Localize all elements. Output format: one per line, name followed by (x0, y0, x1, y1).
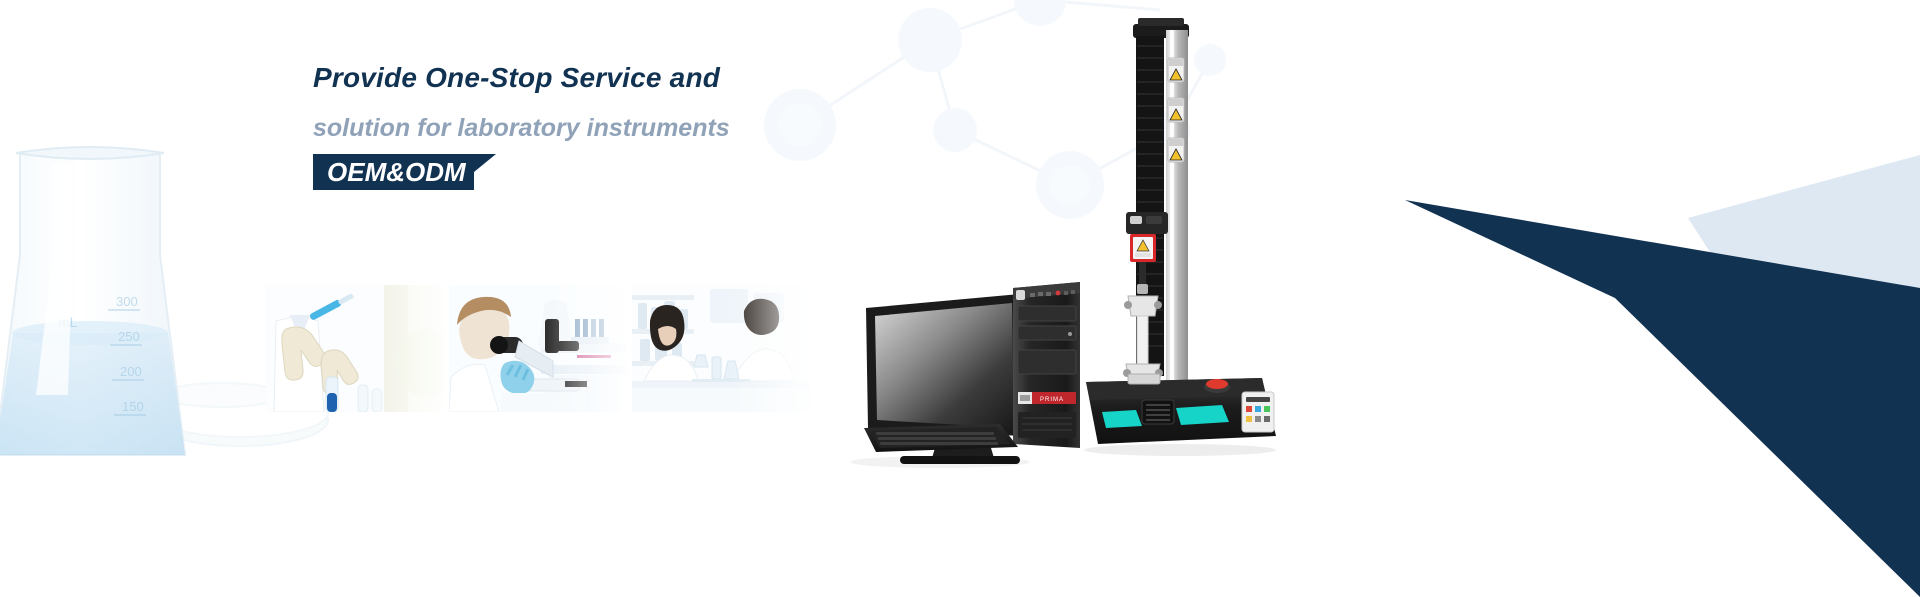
desktop-monitor (866, 294, 1092, 464)
base-light-left (1102, 410, 1142, 428)
dark-arrow-shape (1405, 200, 1920, 597)
photo-strip: Technician in gloves pipetting blue reag… (266, 285, 810, 412)
headline-line-1: Provide One-Stop Service and (313, 58, 1013, 98)
light-arrow-shape (1688, 155, 1920, 330)
svg-text:PRIMA: PRIMA (1040, 397, 1064, 403)
keyboard (864, 424, 1018, 452)
flask-unit-label: mL (58, 314, 78, 330)
photo-pipetting: Technician in gloves pipetting blue reag… (266, 285, 444, 412)
hero-banner: 300 250 200 150 mL Provide One-Stop Serv… (0, 0, 1920, 597)
badge-body: OEM&ODM (313, 154, 474, 190)
badge-label: OEM&ODM (327, 157, 466, 188)
headline-block: Provide One-Stop Service and solution fo… (313, 58, 1013, 148)
photo-microscope: Researcher looking through a laboratory … (449, 285, 627, 412)
flask-graduation-300: 300 (116, 294, 138, 309)
oem-odm-badge: OEM&ODM (313, 154, 496, 190)
computer-tower: PRIMA (1013, 282, 1080, 448)
corner-arrow-decoration (1160, 0, 1920, 597)
warning-label-group (1168, 58, 1184, 162)
flask-graduation-250: 250 (118, 329, 140, 344)
flask-graduation-150: 150 (122, 399, 144, 414)
banner-alt-text: Laboratory instruments OEM and ODM servi… (0, 0, 1, 1)
flask-graduation-200: 200 (120, 364, 142, 379)
light-arrow-shape-lower (1688, 218, 1920, 330)
photo-lab-bench: Scientists working at a laboratory bench… (632, 285, 810, 412)
headline-line-2: solution for laboratory instruments (313, 108, 1013, 148)
badge-arrow-tail (474, 154, 496, 190)
base-light-right (1176, 405, 1229, 425)
